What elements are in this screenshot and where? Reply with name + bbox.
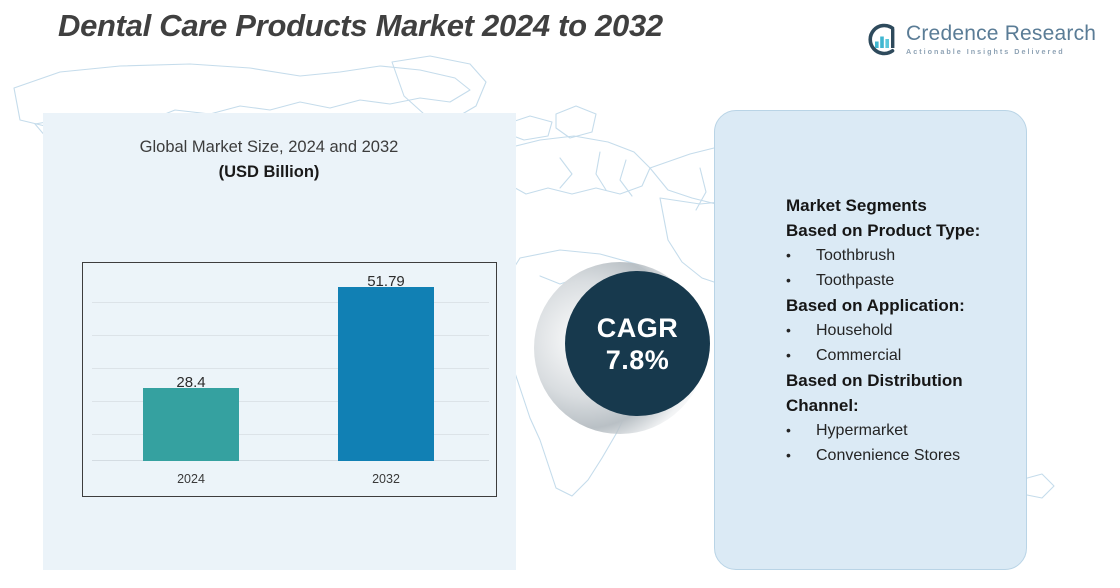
segment-item-label: Toothpaste <box>816 268 894 293</box>
segment-group-heading-product-type: Based on Product Type: <box>786 218 1036 243</box>
bullet-icon: • <box>786 243 816 268</box>
logo-tagline: Actionable Insights Delivered <box>906 47 1096 56</box>
bullet-icon: • <box>786 343 816 368</box>
segment-item-commercial: • Commercial <box>786 343 1036 368</box>
chart-heading-primary: Global Market Size, 2024 and 2032 <box>104 138 434 157</box>
segment-item-label: Convenience Stores <box>816 443 960 468</box>
logo-name: Credence Research <box>906 22 1096 46</box>
segment-item-label: Household <box>816 318 893 343</box>
segment-group-heading-distribution-channel: Based on Distribution Channel: <box>786 368 1021 418</box>
segment-item-convenience-stores: • Convenience Stores <box>786 443 1036 468</box>
segment-item-toothpaste: • Toothpaste <box>786 268 1036 293</box>
segment-item-toothbrush: • Toothbrush <box>786 243 1036 268</box>
bar-value-2032: 51.79 <box>338 273 434 290</box>
cagr-badge: CAGR 7.8% <box>565 271 710 416</box>
infographic-page: Dental Care Products Market 2024 to 2032… <box>0 0 1120 588</box>
segment-item-hypermarket: • Hypermarket <box>786 418 1036 443</box>
bar-value-2024: 28.4 <box>143 374 239 391</box>
bullet-icon: • <box>786 443 816 468</box>
segment-item-label: Hypermarket <box>816 418 908 443</box>
bar-chart: 28.4 51.79 2024 2032 <box>82 262 497 497</box>
segment-group-heading-application: Based on Application: <box>786 293 1036 318</box>
segments-title: Market Segments <box>786 193 1036 218</box>
bar-2032 <box>338 287 434 461</box>
cagr-value: 7.8% <box>606 344 670 376</box>
category-label-2032: 2032 <box>338 472 434 486</box>
logo-text-block: Credence Research Actionable Insights De… <box>906 22 1096 56</box>
bullet-icon: • <box>786 268 816 293</box>
page-title: Dental Care Products Market 2024 to 2032 <box>58 8 663 44</box>
brand-logo: Credence Research Actionable Insights De… <box>866 22 1056 62</box>
bullet-icon: • <box>786 418 816 443</box>
category-label-2024: 2024 <box>143 472 239 486</box>
bullet-icon: • <box>786 318 816 343</box>
segment-item-label: Commercial <box>816 343 901 368</box>
bar-chart-circle-icon <box>866 23 899 56</box>
chart-heading-units: (USD Billion) <box>104 163 434 182</box>
cagr-label: CAGR <box>597 312 679 344</box>
segment-item-household: • Household <box>786 318 1036 343</box>
segment-item-label: Toothbrush <box>816 243 895 268</box>
bar-2024 <box>143 388 239 461</box>
market-segments-list: Market Segments Based on Product Type: •… <box>786 193 1036 468</box>
plot-area: 28.4 51.79 2024 2032 <box>83 263 496 496</box>
